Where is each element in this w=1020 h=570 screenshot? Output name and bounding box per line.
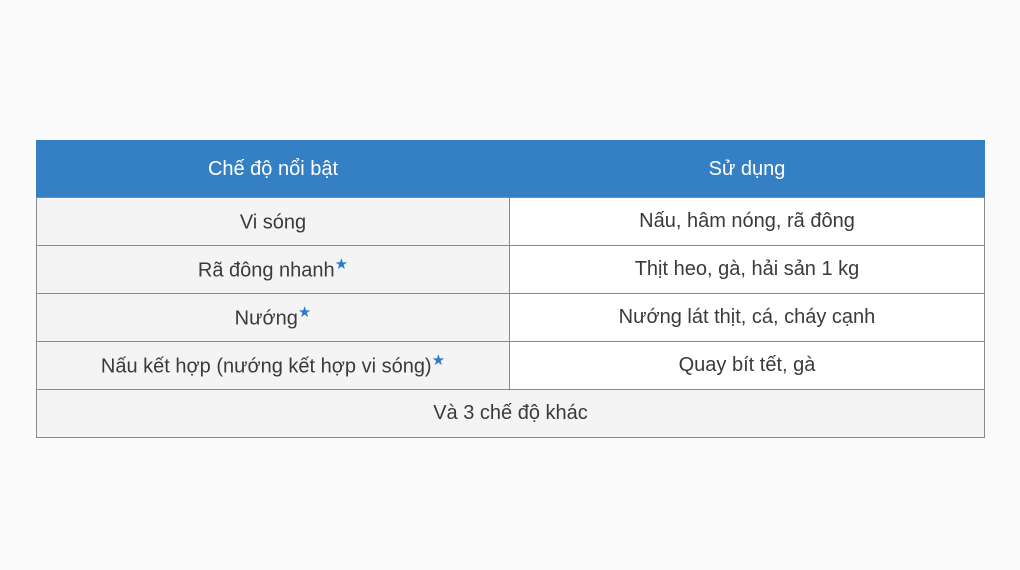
cell-usage: Nấu, hâm nóng, rã đông: [510, 198, 985, 246]
cell-mode: Nấu kết hợp (nướng kết hợp vi sóng)★: [37, 342, 510, 390]
cell-usage: Nướng lát thịt, cá, cháy cạnh: [510, 294, 985, 342]
table-header-row: Chế độ nổi bật Sử dụng: [37, 141, 985, 198]
cell-mode: Nướng★: [37, 294, 510, 342]
cell-usage: Quay bít tết, gà: [510, 342, 985, 390]
column-header-usage: Sử dụng: [510, 141, 985, 198]
table-footnote-row: Và 3 chế độ khác: [37, 390, 985, 438]
cell-mode: Rã đông nhanh★: [37, 246, 510, 294]
table-body: Vi sóng Nấu, hâm nóng, rã đông Rã đông n…: [37, 198, 985, 438]
table-row: Rã đông nhanh★ Thịt heo, gà, hải sản 1 k…: [37, 246, 985, 294]
star-icon: ★: [432, 352, 445, 369]
cell-mode: Vi sóng: [37, 198, 510, 246]
star-icon: ★: [298, 304, 311, 321]
mode-label: Nướng: [235, 307, 298, 329]
mode-label: Rã đông nhanh: [198, 259, 335, 281]
cell-usage: Thịt heo, gà, hải sản 1 kg: [510, 246, 985, 294]
features-table: Chế độ nổi bật Sử dụng Vi sóng Nấu, hâm …: [36, 140, 985, 438]
column-header-mode: Chế độ nổi bật: [37, 141, 510, 198]
table-row: Nướng★ Nướng lát thịt, cá, cháy cạnh: [37, 294, 985, 342]
table-row: Vi sóng Nấu, hâm nóng, rã đông: [37, 198, 985, 246]
mode-label: Nấu kết hợp (nướng kết hợp vi sóng): [101, 355, 432, 377]
star-icon: ★: [335, 256, 348, 273]
page-canvas: Chế độ nổi bật Sử dụng Vi sóng Nấu, hâm …: [0, 0, 1020, 570]
table-header: Chế độ nổi bật Sử dụng: [37, 141, 985, 198]
table-row: Nấu kết hợp (nướng kết hợp vi sóng)★ Qua…: [37, 342, 985, 390]
mode-label: Vi sóng: [240, 211, 306, 233]
footnote-label: Và 3 chế độ khác: [37, 390, 985, 438]
